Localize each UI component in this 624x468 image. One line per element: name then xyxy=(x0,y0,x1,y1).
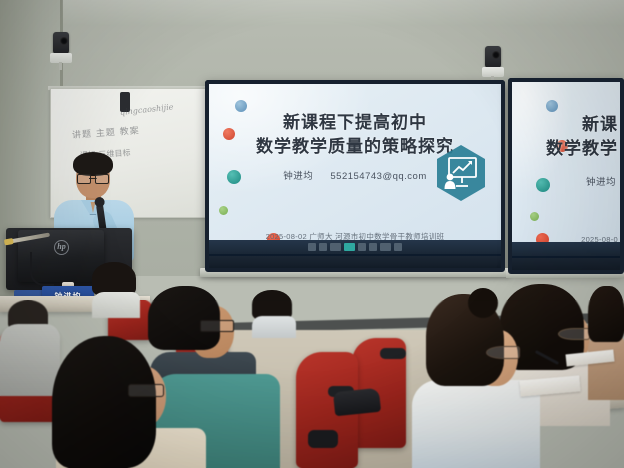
camera-body xyxy=(485,46,501,68)
presentation-slide: 新课程下提高初中 数学教学质量的策略探究 钟进均 552154743@qq.co… xyxy=(209,84,501,254)
taskbar-icon[interactable] xyxy=(369,243,377,251)
wall-camera-left-icon xyxy=(50,32,72,68)
attendee-ponytail xyxy=(468,288,498,318)
bag xyxy=(333,388,381,417)
secondary-display-panel[interactable]: 新课 数学教学 钟进均 2025-08-0 xyxy=(508,78,624,274)
taskbar-icon[interactable] xyxy=(330,243,341,251)
attendee-right-edge xyxy=(588,286,624,396)
presentation-slide-duplicate: 新课 数学教学 钟进均 2025-08-0 xyxy=(512,82,620,256)
presenter-glasses-icon xyxy=(77,174,109,182)
attendee-front-left-woman xyxy=(52,336,202,468)
taskbar-icon[interactable] xyxy=(358,243,366,251)
camera-stem xyxy=(59,62,62,70)
cable xyxy=(30,252,54,286)
screen-taskbar[interactable] xyxy=(209,240,501,254)
bag xyxy=(308,430,338,448)
attendee-body xyxy=(588,336,624,400)
attendee-glasses-icon xyxy=(486,346,520,359)
attendee-glasses-icon xyxy=(200,320,234,332)
display-shelf xyxy=(200,268,510,277)
camera-lens-icon xyxy=(492,51,500,59)
attendee-hair xyxy=(92,262,136,296)
attendee-body xyxy=(92,292,140,318)
camera-lens-icon xyxy=(60,37,68,45)
attendee-glasses-icon xyxy=(128,384,164,397)
presentation-chart-icon xyxy=(435,144,487,202)
glasses-left-lens xyxy=(77,174,91,184)
taskbar-icon[interactable] xyxy=(308,243,316,251)
display-shelf-secondary xyxy=(506,270,624,278)
taskbar-icon[interactable] xyxy=(380,243,391,251)
slide-dot-green xyxy=(530,212,539,221)
wall-camera-right-icon xyxy=(482,46,504,82)
slide-presenter-email: 552154743@qq.com xyxy=(330,171,426,182)
attendee-hair xyxy=(52,336,156,468)
classroom-photo-scene: 讲题 主题 教案 qingcaoshijie 课标 三维目标 新课程下提高初中 xyxy=(0,0,624,468)
camera-body xyxy=(53,32,69,54)
main-screen[interactable]: 新课程下提高初中 数学教学质量的策略探究 钟进均 552154743@qq.co… xyxy=(209,84,501,254)
slide-dot-green xyxy=(219,206,228,215)
taskbar-icon-active[interactable] xyxy=(344,243,355,251)
taskbar-icon[interactable] xyxy=(319,243,327,251)
screen-taskbar[interactable] xyxy=(512,242,620,256)
attendee-gray-hoodie xyxy=(0,300,60,392)
presenter-hair xyxy=(73,152,113,176)
attendee-background-a xyxy=(92,262,140,314)
glasses-right-lens xyxy=(95,174,109,184)
slide-title-line-1: 新课程下提高初中 xyxy=(209,108,501,133)
attendee-hair xyxy=(588,286,624,342)
taskbar-icon[interactable] xyxy=(394,243,402,251)
hp-logo-icon: hp xyxy=(54,240,69,255)
main-display-panel[interactable]: 新课程下提高初中 数学教学质量的策略探究 钟进均 552154743@qq.co… xyxy=(205,80,505,272)
attendee-glasses-icon xyxy=(558,328,590,340)
slide-title-line-2: 数学教学 xyxy=(512,134,620,159)
attendee-body xyxy=(0,324,60,396)
secondary-screen[interactable]: 新课 数学教学 钟进均 2025-08-0 xyxy=(512,82,620,256)
attendee-background-b xyxy=(252,290,296,334)
slide-title-line-1: 新课 xyxy=(512,110,620,135)
slide-presenter-name: 钟进均 xyxy=(512,174,620,188)
attendee-body xyxy=(252,316,296,338)
chair-armrest xyxy=(380,348,406,359)
slide-presenter-name: 钟进均 xyxy=(283,171,313,182)
